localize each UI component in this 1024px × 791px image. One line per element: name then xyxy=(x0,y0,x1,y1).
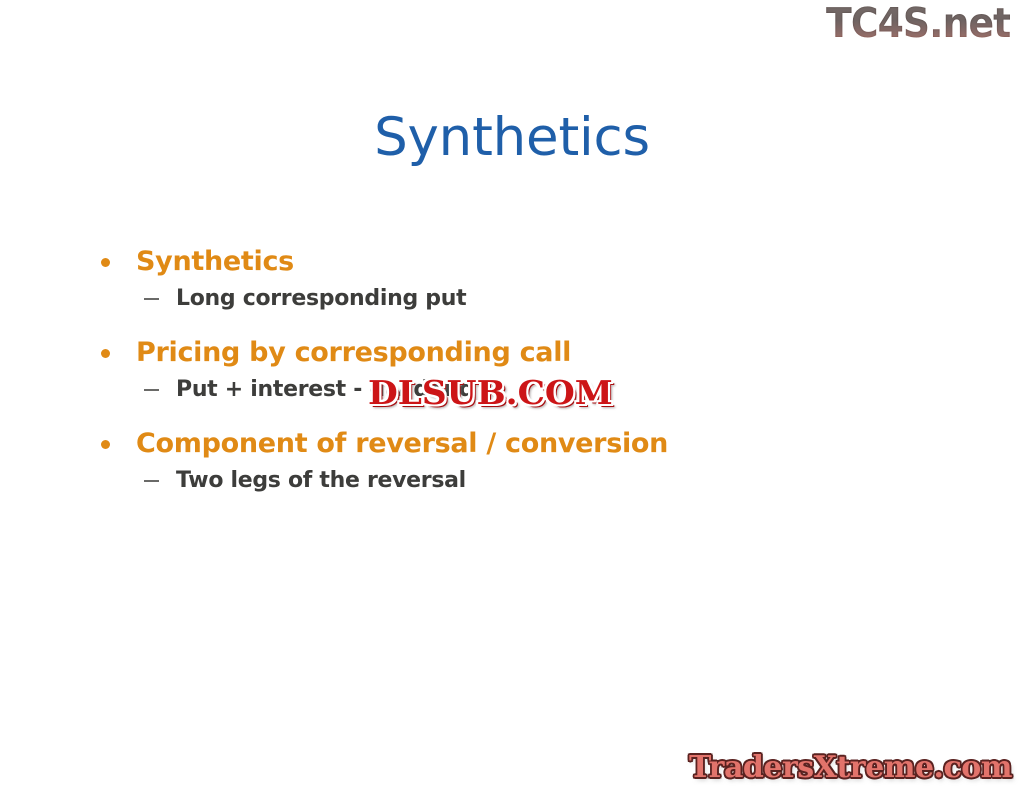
tc4s-brand-logo: TC4S.net xyxy=(826,2,1010,45)
bullet-level2: Two legs of the reversal xyxy=(88,470,948,492)
slide-title: Synthetics xyxy=(0,108,1024,169)
bullet-block: Synthetics Long corresponding put xyxy=(88,248,948,310)
bullet-level1: Pricing by corresponding call xyxy=(88,339,948,366)
bullet-level1-label: Component of reversal / conversion xyxy=(136,428,668,459)
bullet-dash-icon xyxy=(144,389,159,391)
presentation-slide: TC4S.net Synthetics Synthetics Long corr… xyxy=(0,0,1024,791)
bullet-dash-icon xyxy=(144,298,159,300)
bullet-dot-icon xyxy=(101,258,110,267)
tradersxtreme-watermark: TradersXtreme.com xyxy=(689,750,1012,785)
bullet-dot-icon xyxy=(101,440,110,449)
bullet-level1-label: Pricing by corresponding call xyxy=(136,337,571,368)
dlsub-watermark: DLSUB.COM xyxy=(368,373,613,412)
bullet-level1: Synthetics xyxy=(88,248,948,275)
bullet-level1-label: Synthetics xyxy=(136,246,294,277)
bullet-block: Component of reversal / conversion Two l… xyxy=(88,430,948,492)
bullet-level2-label: Two legs of the reversal xyxy=(176,468,466,493)
bullet-level1: Component of reversal / conversion xyxy=(88,430,948,457)
bullet-dot-icon xyxy=(101,349,110,358)
bullet-dash-icon xyxy=(144,480,159,482)
bullet-level2: Long corresponding put xyxy=(88,288,948,310)
bullet-level2-label: Long corresponding put xyxy=(176,286,466,311)
